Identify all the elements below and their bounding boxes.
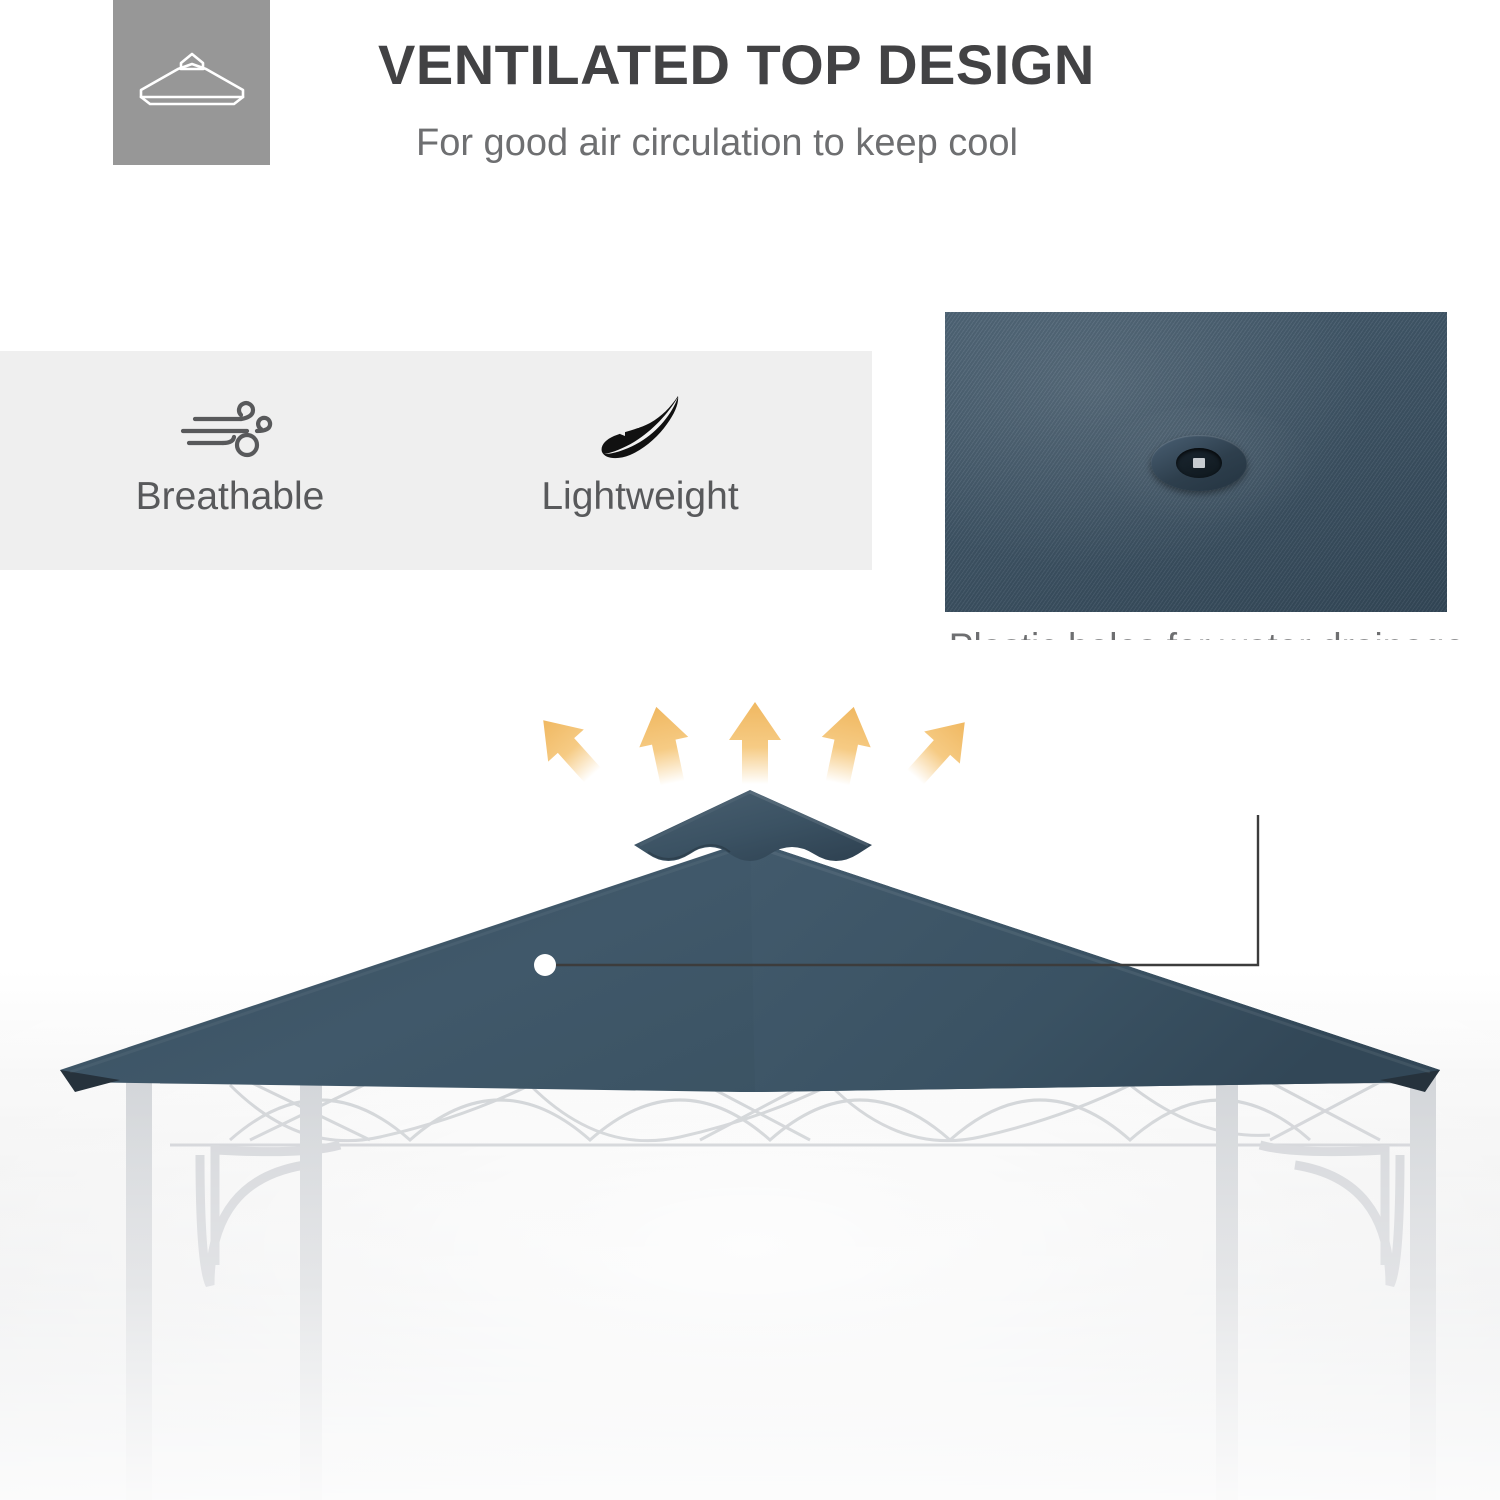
- product-scene: [0, 640, 1500, 1500]
- feature-item-lightweight: Lightweight: [475, 389, 805, 519]
- feature-label: Lightweight: [475, 475, 805, 519]
- infographic-canvas: VENTILATED TOP DESIGN For good air circu…: [0, 0, 1500, 1500]
- grommet-inner-ring: [1176, 448, 1222, 478]
- header-icon-box: [113, 0, 270, 165]
- drainage-grommet: [1151, 435, 1247, 491]
- page-title: VENTILATED TOP DESIGN: [378, 32, 1095, 97]
- feature-label: Breathable: [65, 475, 395, 519]
- feature-item-breathable: Breathable: [65, 389, 395, 519]
- page-subtitle: For good air circulation to keep cool: [416, 122, 1018, 165]
- callout-line: [545, 815, 1258, 965]
- features-panel: Breathable Lightweight: [0, 351, 872, 570]
- callout-dot: [534, 954, 556, 976]
- vent-callout: [0, 640, 1500, 1500]
- wind-icon: [65, 389, 395, 467]
- grommet-hole: [1193, 458, 1205, 468]
- drainage-detail-photo: [945, 312, 1447, 612]
- feather-icon: [475, 389, 805, 467]
